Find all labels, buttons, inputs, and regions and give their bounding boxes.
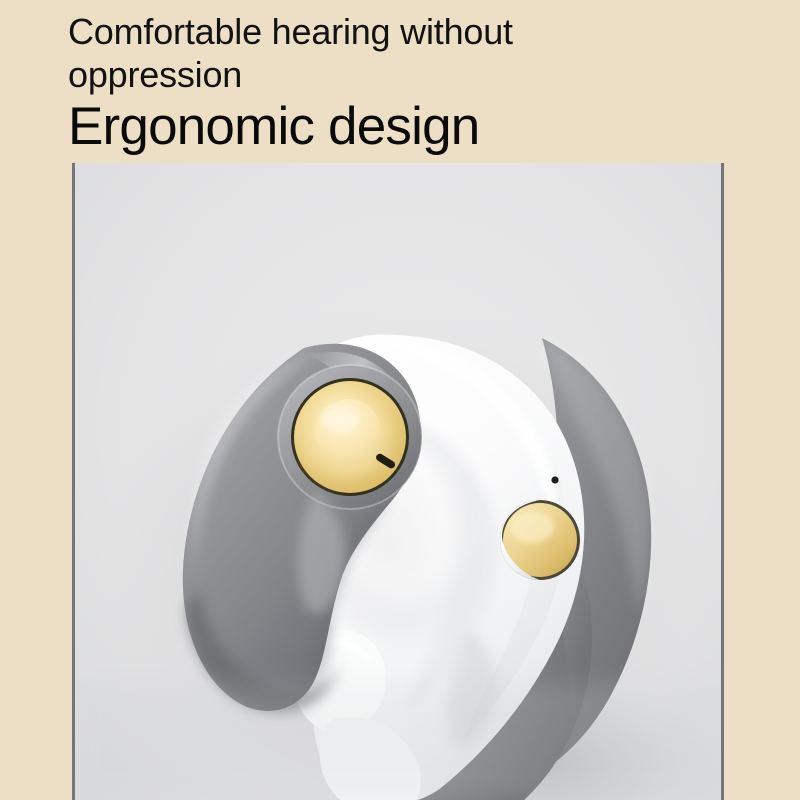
driver-dome-glow xyxy=(306,393,390,477)
second-driver-disc xyxy=(500,500,580,580)
page-title: Ergonomic design xyxy=(68,96,708,156)
promo-page: Comfortable hearing without oppression E… xyxy=(0,0,800,800)
acoustic-driver xyxy=(278,365,422,509)
copy-block: Comfortable hearing without oppression E… xyxy=(68,0,708,156)
product-photo-panel xyxy=(72,163,724,800)
bottom-vignette xyxy=(75,683,721,800)
microphone-pinhole-icon xyxy=(551,476,558,483)
product-photo xyxy=(75,163,721,800)
second-driver-highlight xyxy=(510,511,554,543)
subhead-text: Comfortable hearing without oppression xyxy=(68,0,708,96)
